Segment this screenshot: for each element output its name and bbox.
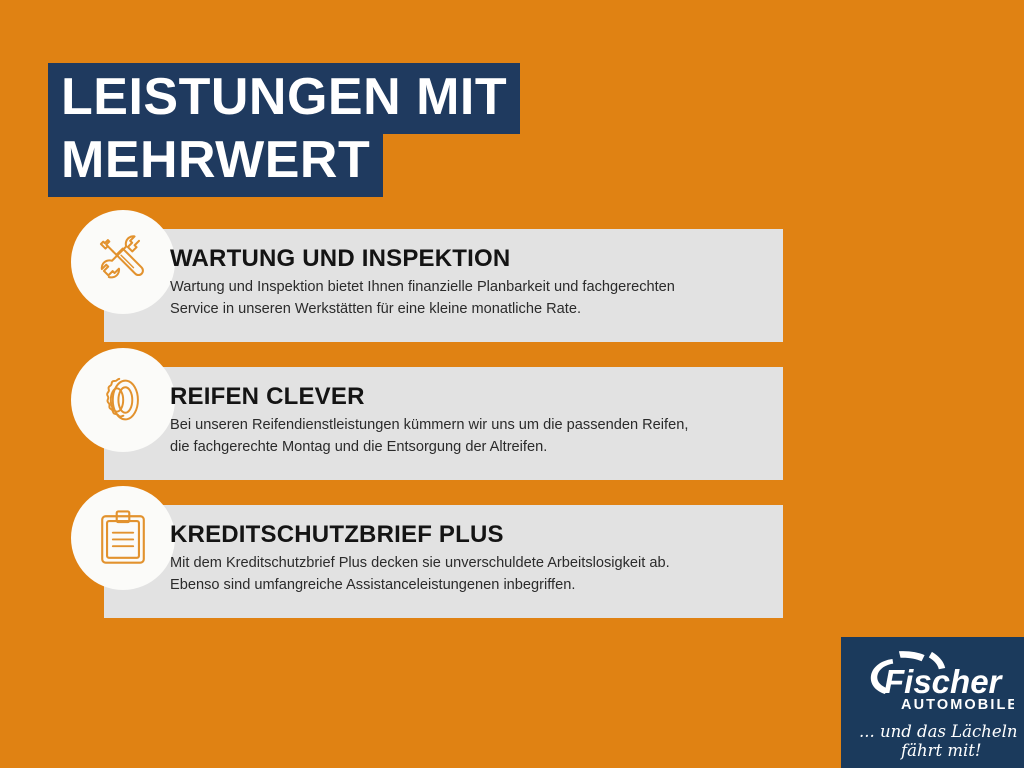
logo-tagline: ... und das Lächeln fährt mit! [841, 715, 1024, 765]
card-body: KREDITSCHUTZBRIEF PLUS Mit dem Kreditsch… [170, 522, 769, 597]
service-card-reifen-clever[interactable]: REIFEN CLEVER Bei unseren Reifendienstle… [104, 367, 783, 480]
icon-badge-wartung [71, 210, 175, 314]
card-description: Bei unseren Reifendienstleistungen kümme… [170, 415, 769, 459]
card-description-line-2: die fachgerechte Montag und die Entsorgu… [170, 437, 769, 459]
card-description-line-2: Ebenso sind umfangreiche Assistanceleist… [170, 575, 769, 597]
card-title: REIFEN CLEVER [170, 384, 769, 409]
card-title: WARTUNG UND INSPEKTION [170, 246, 769, 271]
clipboard-icon [95, 509, 151, 567]
company-logo[interactable]: Fischer AUTOMOBILE ... und das Lächeln f… [841, 637, 1024, 768]
wrench-screwdriver-icon [92, 231, 154, 293]
icon-badge-reifen [71, 348, 175, 452]
card-description: Mit dem Kreditschutzbrief Plus decken si… [170, 553, 769, 597]
slide-canvas: LEISTUNGEN MIT MEHRWERT WARTUNG UND INSP… [0, 0, 1024, 768]
card-body: WARTUNG UND INSPEKTION Wartung und Inspe… [170, 246, 769, 321]
logo-brand-text: Fischer [884, 663, 1004, 700]
fischer-automobile-wordmark: Fischer AUTOMOBILE [851, 645, 1014, 717]
tire-icon [93, 370, 153, 430]
card-description-line-1: Wartung und Inspektion bietet Ihnen fina… [170, 277, 769, 299]
page-title-line-2: MEHRWERT [48, 126, 383, 197]
card-title: KREDITSCHUTZBRIEF PLUS [170, 522, 769, 547]
page-title-line-1: LEISTUNGEN MIT [48, 63, 520, 134]
card-description-line-2: Service in unseren Werkstätten für eine … [170, 299, 769, 321]
card-body: REIFEN CLEVER Bei unseren Reifendienstle… [170, 384, 769, 459]
service-card-kreditschutzbrief-plus[interactable]: KREDITSCHUTZBRIEF PLUS Mit dem Kreditsch… [104, 505, 783, 618]
logo-tagline-line-2: fährt mit! [899, 741, 982, 760]
logo-tagline-line-1: ... und das Lächeln [859, 722, 1017, 741]
card-description-line-1: Bei unseren Reifendienstleistungen kümme… [170, 415, 769, 437]
icon-badge-kreditschutzbrief [71, 486, 175, 590]
service-card-wartung-und-inspektion[interactable]: WARTUNG UND INSPEKTION Wartung und Inspe… [104, 229, 783, 342]
card-description-line-1: Mit dem Kreditschutzbrief Plus decken si… [170, 553, 769, 575]
card-description: Wartung und Inspektion bietet Ihnen fina… [170, 277, 769, 321]
logo-subtitle-text: AUTOMOBILE [901, 697, 1014, 713]
